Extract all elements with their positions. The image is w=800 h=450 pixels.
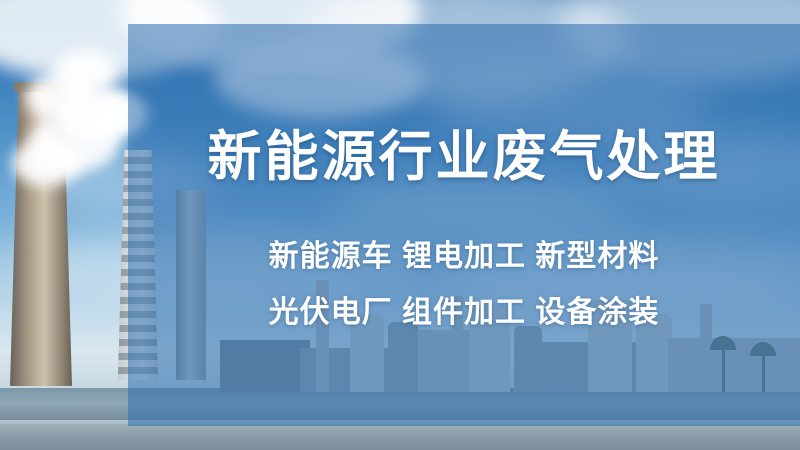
banner-headline: 新能源行业废气处理 bbox=[208, 128, 721, 187]
banner-subline-2: 光伏电厂 组件加工 设备涂装 bbox=[269, 297, 660, 329]
banner-subline-1: 新能源车 锂电加工 新型材料 bbox=[269, 241, 660, 273]
shoreline bbox=[0, 424, 800, 450]
banner-text-block: 新能源行业废气处理 新能源车 锂电加工 新型材料 光伏电厂 组件加工 设备涂装 bbox=[128, 24, 800, 426]
smoke-plume bbox=[12, 140, 82, 186]
promo-banner: 新能源行业废气处理 新能源车 锂电加工 新型材料 光伏电厂 组件加工 设备涂装 bbox=[0, 0, 800, 450]
smoke-plume bbox=[54, 50, 118, 96]
